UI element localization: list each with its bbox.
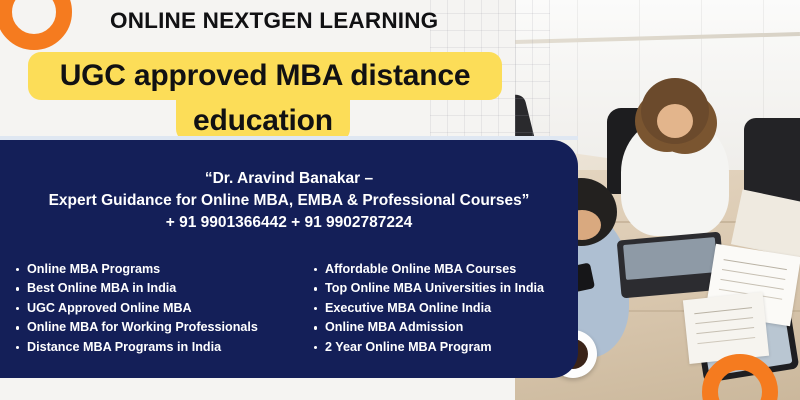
person-center-head: [641, 78, 709, 144]
contact-phone-numbers[interactable]: + 91 9901366442 + 91 9902787224: [0, 212, 578, 234]
services-column-right: Affordable Online MBA Courses Top Online…: [296, 260, 578, 357]
headline-band-one: UGC approved MBA distance: [28, 52, 502, 100]
list-item: 2 Year Online MBA Program: [312, 338, 578, 357]
quote-line-two: Expert Guidance for Online MBA, EMBA & P…: [0, 190, 578, 212]
promo-banner: ONLINE NEXTGEN LEARNING UGC approved MBA…: [0, 0, 800, 400]
list-item: Affordable Online MBA Courses: [312, 260, 578, 279]
list-item: Online MBA Admission: [312, 318, 578, 337]
paper-sheet-two: [683, 292, 769, 364]
headline-line-one: UGC approved MBA distance: [60, 59, 471, 93]
brand-eyebrow: ONLINE NEXTGEN LEARNING: [110, 8, 438, 34]
list-item: Online MBA Programs: [14, 260, 296, 279]
services-lists: Online MBA Programs Best Online MBA in I…: [0, 260, 578, 357]
services-column-left: Online MBA Programs Best Online MBA in I…: [14, 260, 296, 357]
quote-line-one: “Dr. Aravind Banakar –: [0, 168, 578, 190]
expert-quote: “Dr. Aravind Banakar – Expert Guidance f…: [0, 168, 578, 234]
list-item: Best Online MBA in India: [14, 279, 296, 298]
navy-content-panel: “Dr. Aravind Banakar – Expert Guidance f…: [0, 140, 578, 378]
list-item: Top Online MBA Universities in India: [312, 279, 578, 298]
orange-ring-logo-icon: [0, 0, 72, 50]
list-item: UGC Approved Online MBA: [14, 299, 296, 318]
list-item: Distance MBA Programs in India: [14, 338, 296, 357]
headline-line-two: education: [193, 104, 333, 138]
list-item: Executive MBA Online India: [312, 299, 578, 318]
list-item: Online MBA for Working Professionals: [14, 318, 296, 337]
